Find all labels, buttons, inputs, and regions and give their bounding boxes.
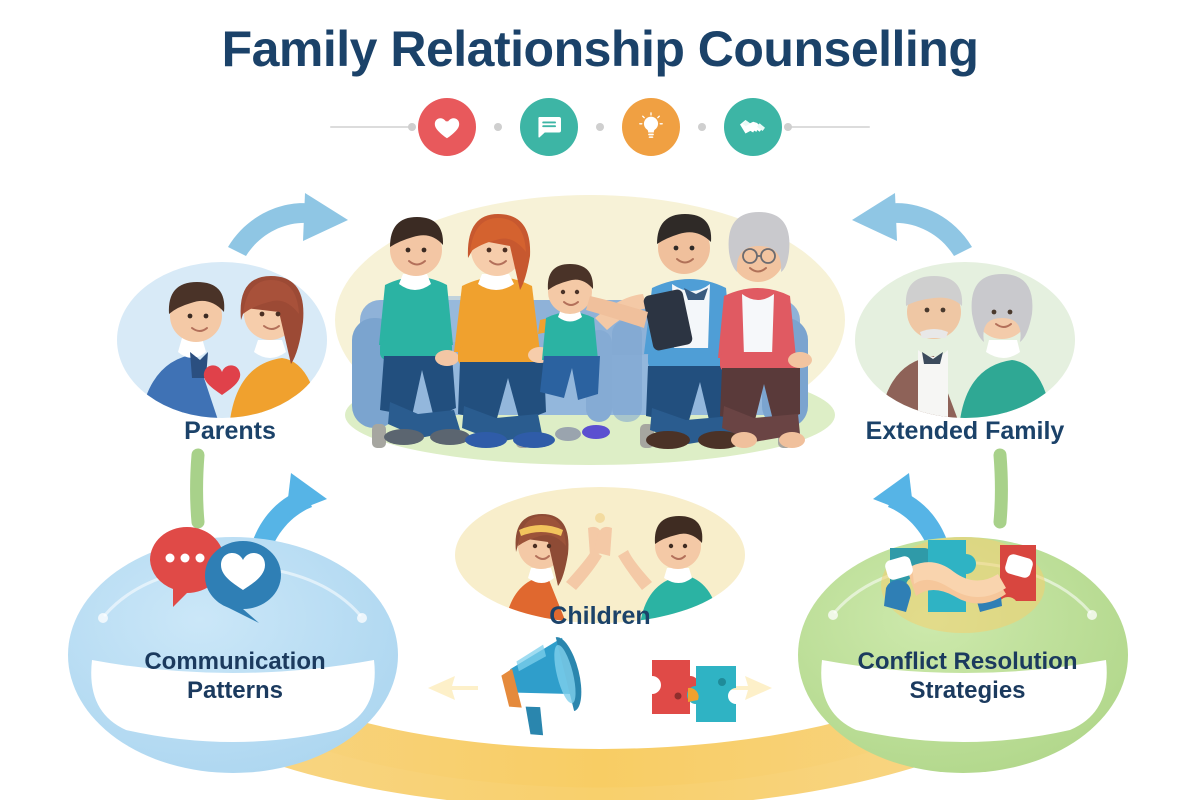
- icon-badge-lightbulb[interactable]: [622, 98, 680, 156]
- person-counsellor: [586, 214, 742, 449]
- person-grandmother: [718, 212, 812, 448]
- lightbulb-icon: [635, 111, 667, 143]
- icon-badge-speech[interactable]: [520, 98, 578, 156]
- curved-arrow-bottom-right: [873, 473, 951, 560]
- icon-badge-handshake[interactable]: [724, 98, 782, 156]
- strip-dot-3: [698, 123, 706, 131]
- communication-label-line1: Communication: [144, 648, 325, 675]
- speech-bubble-icon: [534, 112, 564, 142]
- extended-family-label: Extended Family: [845, 417, 1085, 446]
- communication-label: Communication Patterns: [110, 648, 360, 706]
- megaphone-icon: [496, 634, 592, 742]
- parents-label: Parents: [110, 417, 350, 446]
- communication-label-line2: Patterns: [187, 677, 283, 704]
- extended-family-oval: [855, 262, 1075, 418]
- conflict-label-line1: Conflict Resolution: [858, 648, 1078, 675]
- strip-line-left: [330, 126, 412, 128]
- scene-floor: [345, 365, 835, 465]
- curved-arrow-top-right: [852, 193, 972, 256]
- band-arrow-left: [428, 676, 478, 700]
- person-father: [379, 217, 470, 445]
- curved-arrow-bottom-left: [249, 473, 327, 560]
- parents-oval: [117, 262, 327, 418]
- strip-line-right: [788, 126, 870, 128]
- children-label: Children: [480, 602, 720, 631]
- strip-dot-2: [596, 123, 604, 131]
- person-child-boy: [540, 264, 647, 441]
- heart-shape: [204, 365, 240, 395]
- sofa: [352, 296, 808, 448]
- puzzle-pieces-icon: [652, 660, 736, 722]
- green-connector-left: [197, 455, 199, 522]
- curved-arrow-top-left: [228, 193, 348, 256]
- conflict-label-line2: Strategies: [909, 677, 1025, 704]
- infographic-canvas: Family Relationship Counselling: [0, 0, 1200, 800]
- conflict-label: Conflict Resolution Strategies: [835, 648, 1100, 706]
- scene-backdrop: [335, 195, 845, 445]
- heart-icon: [432, 112, 462, 142]
- page-title: Family Relationship Counselling: [0, 20, 1200, 78]
- sparkle-icon: [586, 678, 610, 706]
- icon-strip: [0, 92, 1200, 162]
- handshake-puzzle-icon: [881, 537, 1045, 633]
- speech-bubbles-icon: [150, 527, 281, 623]
- icon-badge-heart[interactable]: [418, 98, 476, 156]
- green-connector-right: [1000, 455, 1002, 522]
- handshake-icon: [737, 111, 769, 143]
- strip-dot-1: [494, 123, 502, 131]
- person-mother: [454, 214, 574, 448]
- band-arrow-right: [722, 676, 772, 700]
